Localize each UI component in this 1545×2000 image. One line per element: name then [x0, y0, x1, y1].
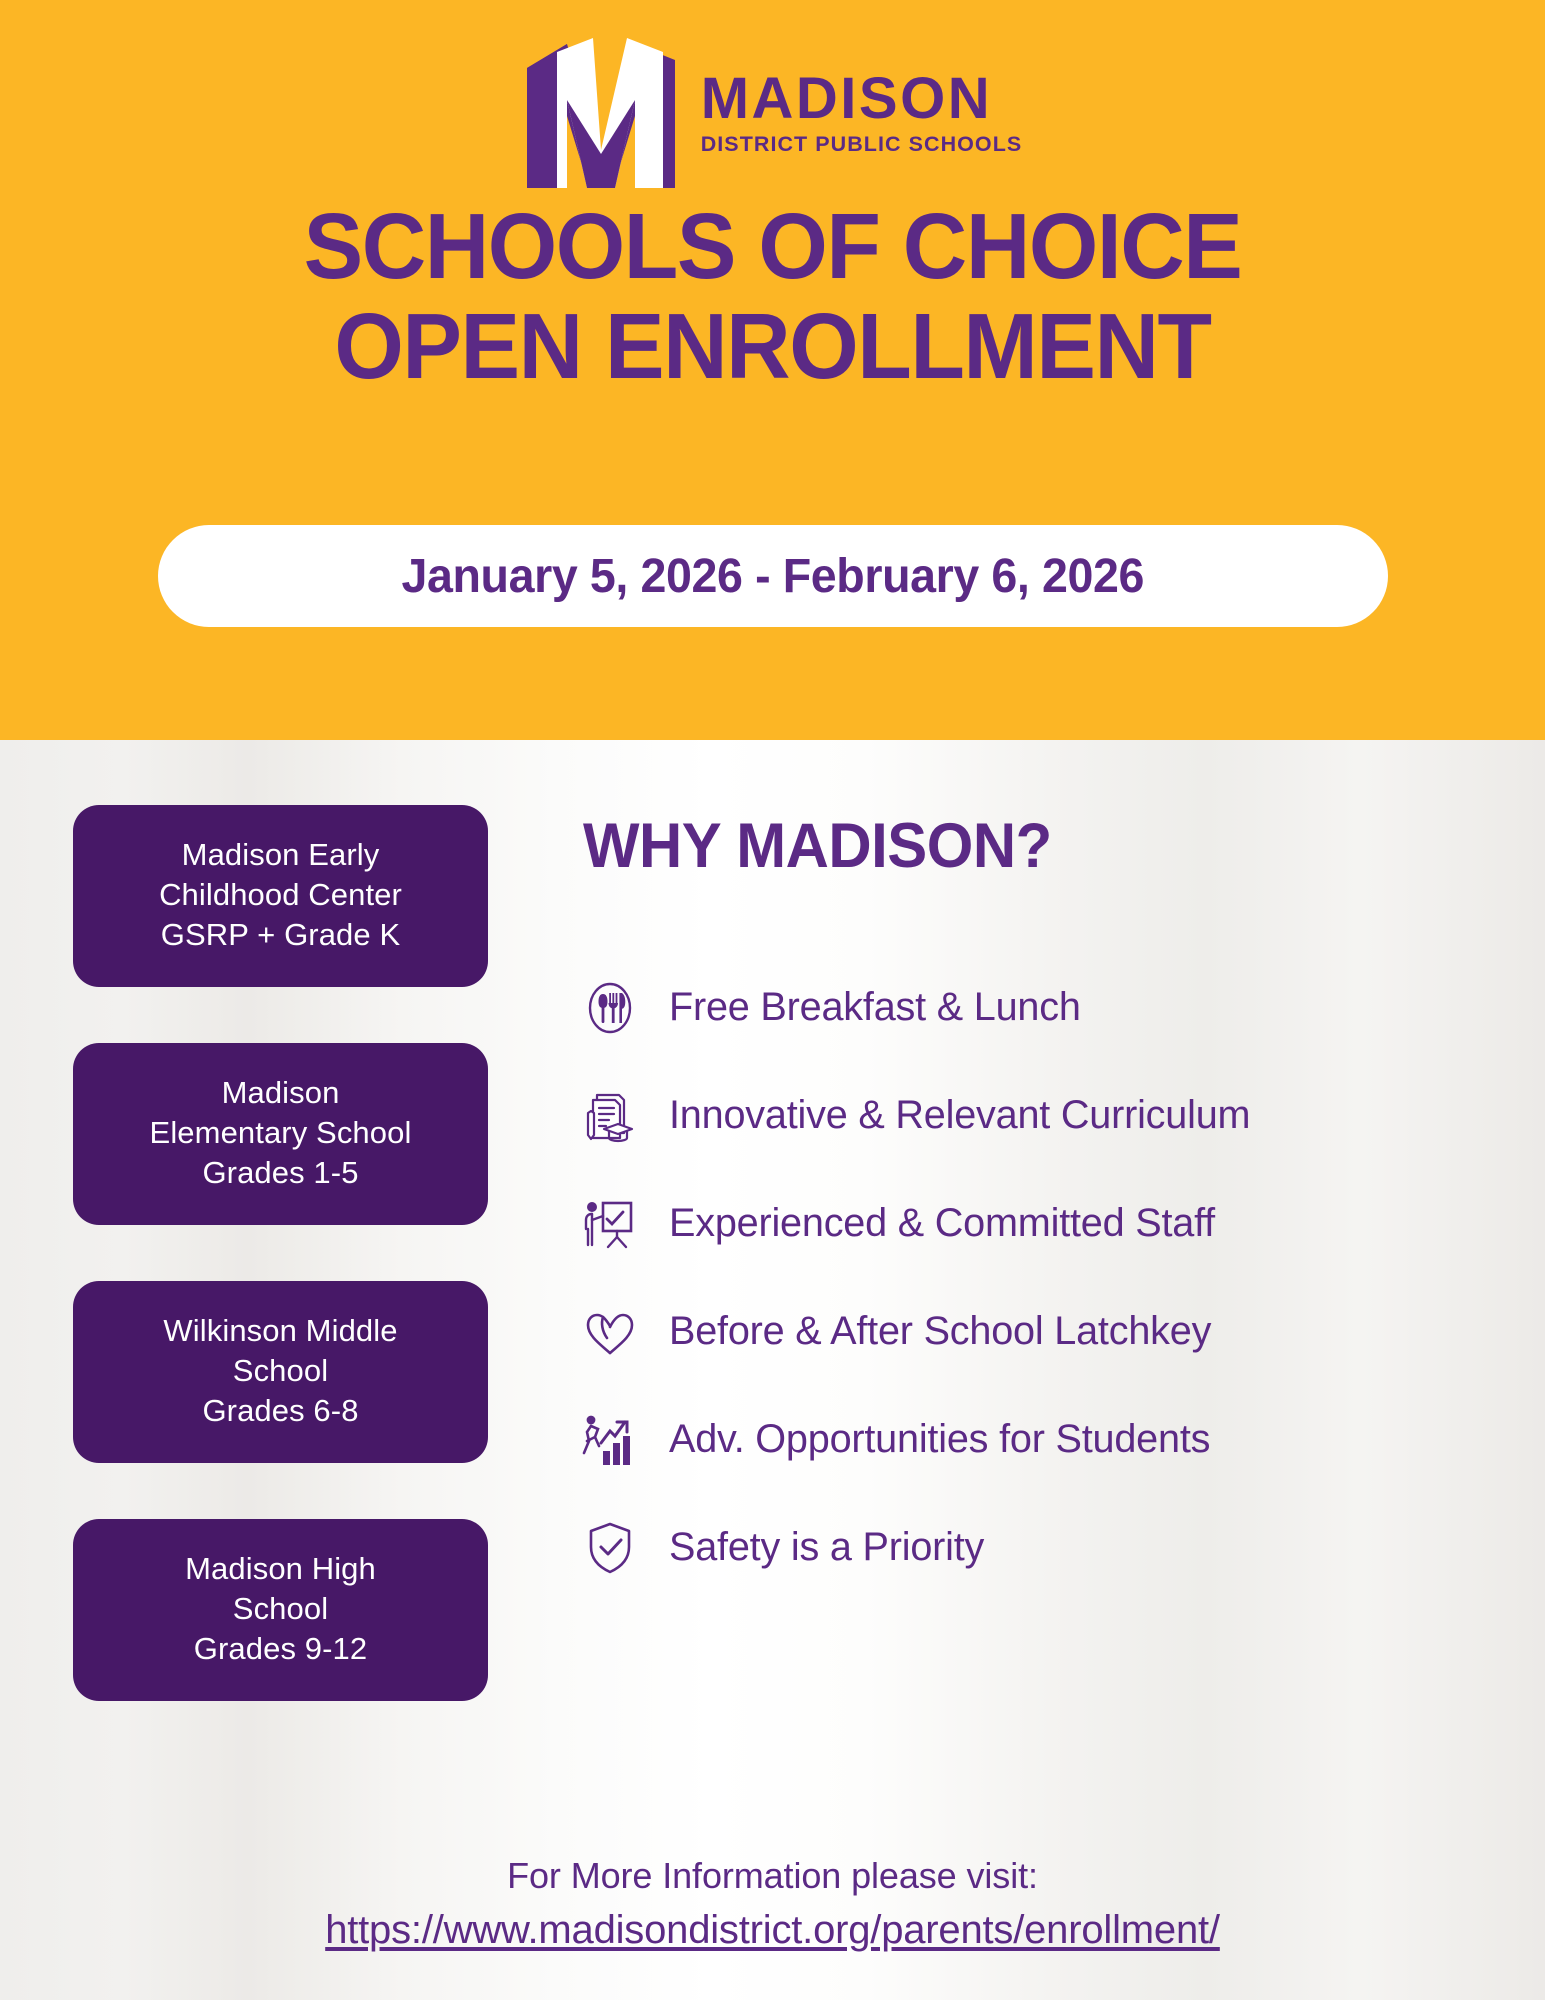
school-card-elementary[interactable]: Madison Elementary School Grades 1-5: [73, 1043, 488, 1225]
school-line: GSRP + Grade K: [89, 915, 472, 955]
school-line: School: [89, 1589, 472, 1629]
school-line: Madison Early: [89, 835, 472, 875]
school-line: Grades 1-5: [89, 1153, 472, 1193]
benefit-advanced-opportunities: Adv. Opportunities for Students: [577, 1397, 1457, 1482]
school-card-early-childhood[interactable]: Madison Early Childhood Center GSRP + Gr…: [73, 805, 488, 987]
school-line: School: [89, 1351, 472, 1391]
benefit-safety: Safety is a Priority: [577, 1505, 1457, 1590]
school-list: Madison Early Childhood Center GSRP + Gr…: [73, 805, 488, 1701]
heart-hand-icon: [577, 1299, 643, 1365]
benefit-label: Experienced & Committed Staff: [669, 1201, 1215, 1246]
page-title: SCHOOLS OF CHOICE OPEN ENROLLMENT: [31, 196, 1514, 397]
school-line: Madison High: [89, 1549, 472, 1589]
benefit-label: Safety is a Priority: [669, 1525, 984, 1570]
header-band: MADISON DISTRICT PUBLIC SCHOOLS SCHOOLS …: [0, 0, 1545, 740]
more-info-prompt: For More Information please visit:: [0, 1852, 1545, 1900]
utensils-circle-icon: [577, 975, 643, 1041]
school-line: Elementary School: [89, 1113, 472, 1153]
district-logo: MADISON DISTRICT PUBLIC SCHOOLS: [0, 38, 1545, 188]
benefit-curriculum: Innovative & Relevant Curriculum: [577, 1073, 1457, 1158]
shield-check-icon: [577, 1515, 643, 1581]
school-line: Wilkinson Middle: [89, 1311, 472, 1351]
document-pen-graduation-cap-icon: [577, 1083, 643, 1149]
why-madison-heading: WHY MADISON?: [583, 810, 1052, 882]
benefit-staff: Experienced & Committed Staff: [577, 1181, 1457, 1266]
benefit-latchkey: Before & After School Latchkey: [577, 1289, 1457, 1374]
logo-subtitle: DISTRICT PUBLIC SCHOOLS: [701, 133, 1023, 157]
school-line: Madison: [89, 1073, 472, 1113]
benefit-free-meals: Free Breakfast & Lunch: [577, 965, 1457, 1050]
person-growth-chart-icon: [577, 1407, 643, 1473]
school-card-high[interactable]: Madison High School Grades 9-12: [73, 1519, 488, 1701]
footer: For More Information please visit: https…: [0, 1852, 1545, 1956]
teacher-whiteboard-icon: [577, 1191, 643, 1257]
logo-title: MADISON: [701, 69, 1023, 128]
school-line: Grades 9-12: [89, 1629, 472, 1669]
school-card-middle[interactable]: Wilkinson Middle School Grades 6-8: [73, 1281, 488, 1463]
date-range-banner: January 5, 2026 - February 6, 2026: [158, 525, 1388, 627]
school-line: Grades 6-8: [89, 1391, 472, 1431]
benefits-list: Free Breakfast & Lunch Innovative & Rele…: [577, 965, 1457, 1590]
benefit-label: Before & After School Latchkey: [669, 1309, 1211, 1354]
headline-line-2: OPEN ENROLLMENT: [31, 296, 1514, 396]
logo-wordmark: MADISON DISTRICT PUBLIC SCHOOLS: [701, 69, 1023, 157]
date-range-text: January 5, 2026 - February 6, 2026: [402, 549, 1145, 604]
benefit-label: Adv. Opportunities for Students: [669, 1417, 1210, 1462]
benefit-label: Free Breakfast & Lunch: [669, 985, 1081, 1030]
madison-m-logo-icon: [523, 38, 679, 188]
enrollment-url-link[interactable]: https://www.madisondistrict.org/parents/…: [325, 1904, 1220, 1957]
school-line: Childhood Center: [89, 875, 472, 915]
headline-line-1: SCHOOLS OF CHOICE: [304, 194, 1242, 298]
enrollment-flyer: MADISON DISTRICT PUBLIC SCHOOLS SCHOOLS …: [0, 0, 1545, 2000]
benefit-label: Innovative & Relevant Curriculum: [669, 1093, 1250, 1138]
